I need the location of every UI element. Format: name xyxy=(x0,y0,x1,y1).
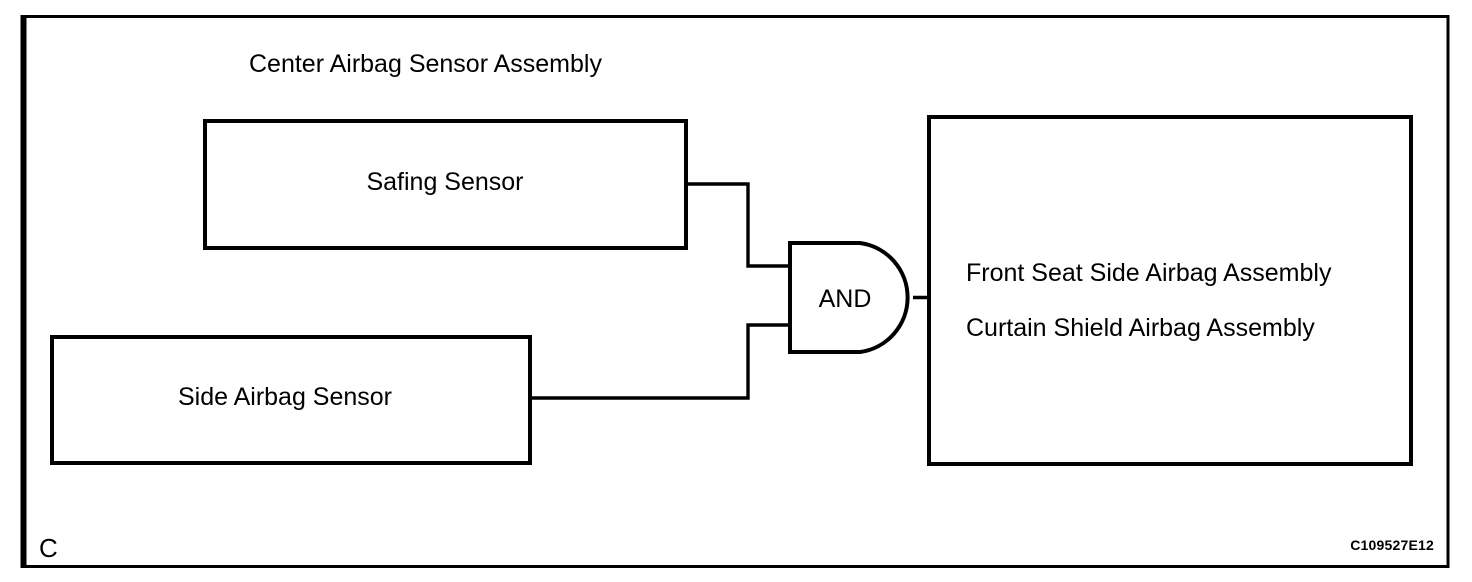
assembly-title: Center Airbag Sensor Assembly xyxy=(249,50,602,78)
curtain-shield-airbag-label: Curtain Shield Airbag Assembly xyxy=(966,314,1315,342)
and-gate: AND xyxy=(790,243,908,352)
reference-code: C109527E12 xyxy=(1350,537,1434,553)
and-gate-label: AND xyxy=(819,285,872,313)
side-airbag-sensor-label: Side Airbag Sensor xyxy=(178,383,392,411)
airbag-assembly-output-block: Front Seat Side Airbag Assembly Curtain … xyxy=(929,117,1411,464)
safing-sensor-block: Safing Sensor xyxy=(205,121,686,248)
front-seat-side-airbag-label: Front Seat Side Airbag Assembly xyxy=(966,259,1332,287)
diagram-canvas: Center Airbag Sensor Assembly Safing Sen… xyxy=(0,0,1472,582)
airbag-assembly-box xyxy=(929,117,1411,464)
side-airbag-sensor-block: Side Airbag Sensor xyxy=(52,337,530,463)
sheet-letter: C xyxy=(39,533,58,563)
airbag-logic-diagram: Center Airbag Sensor Assembly Safing Sen… xyxy=(0,0,1472,582)
safing-sensor-label: Safing Sensor xyxy=(366,168,523,196)
